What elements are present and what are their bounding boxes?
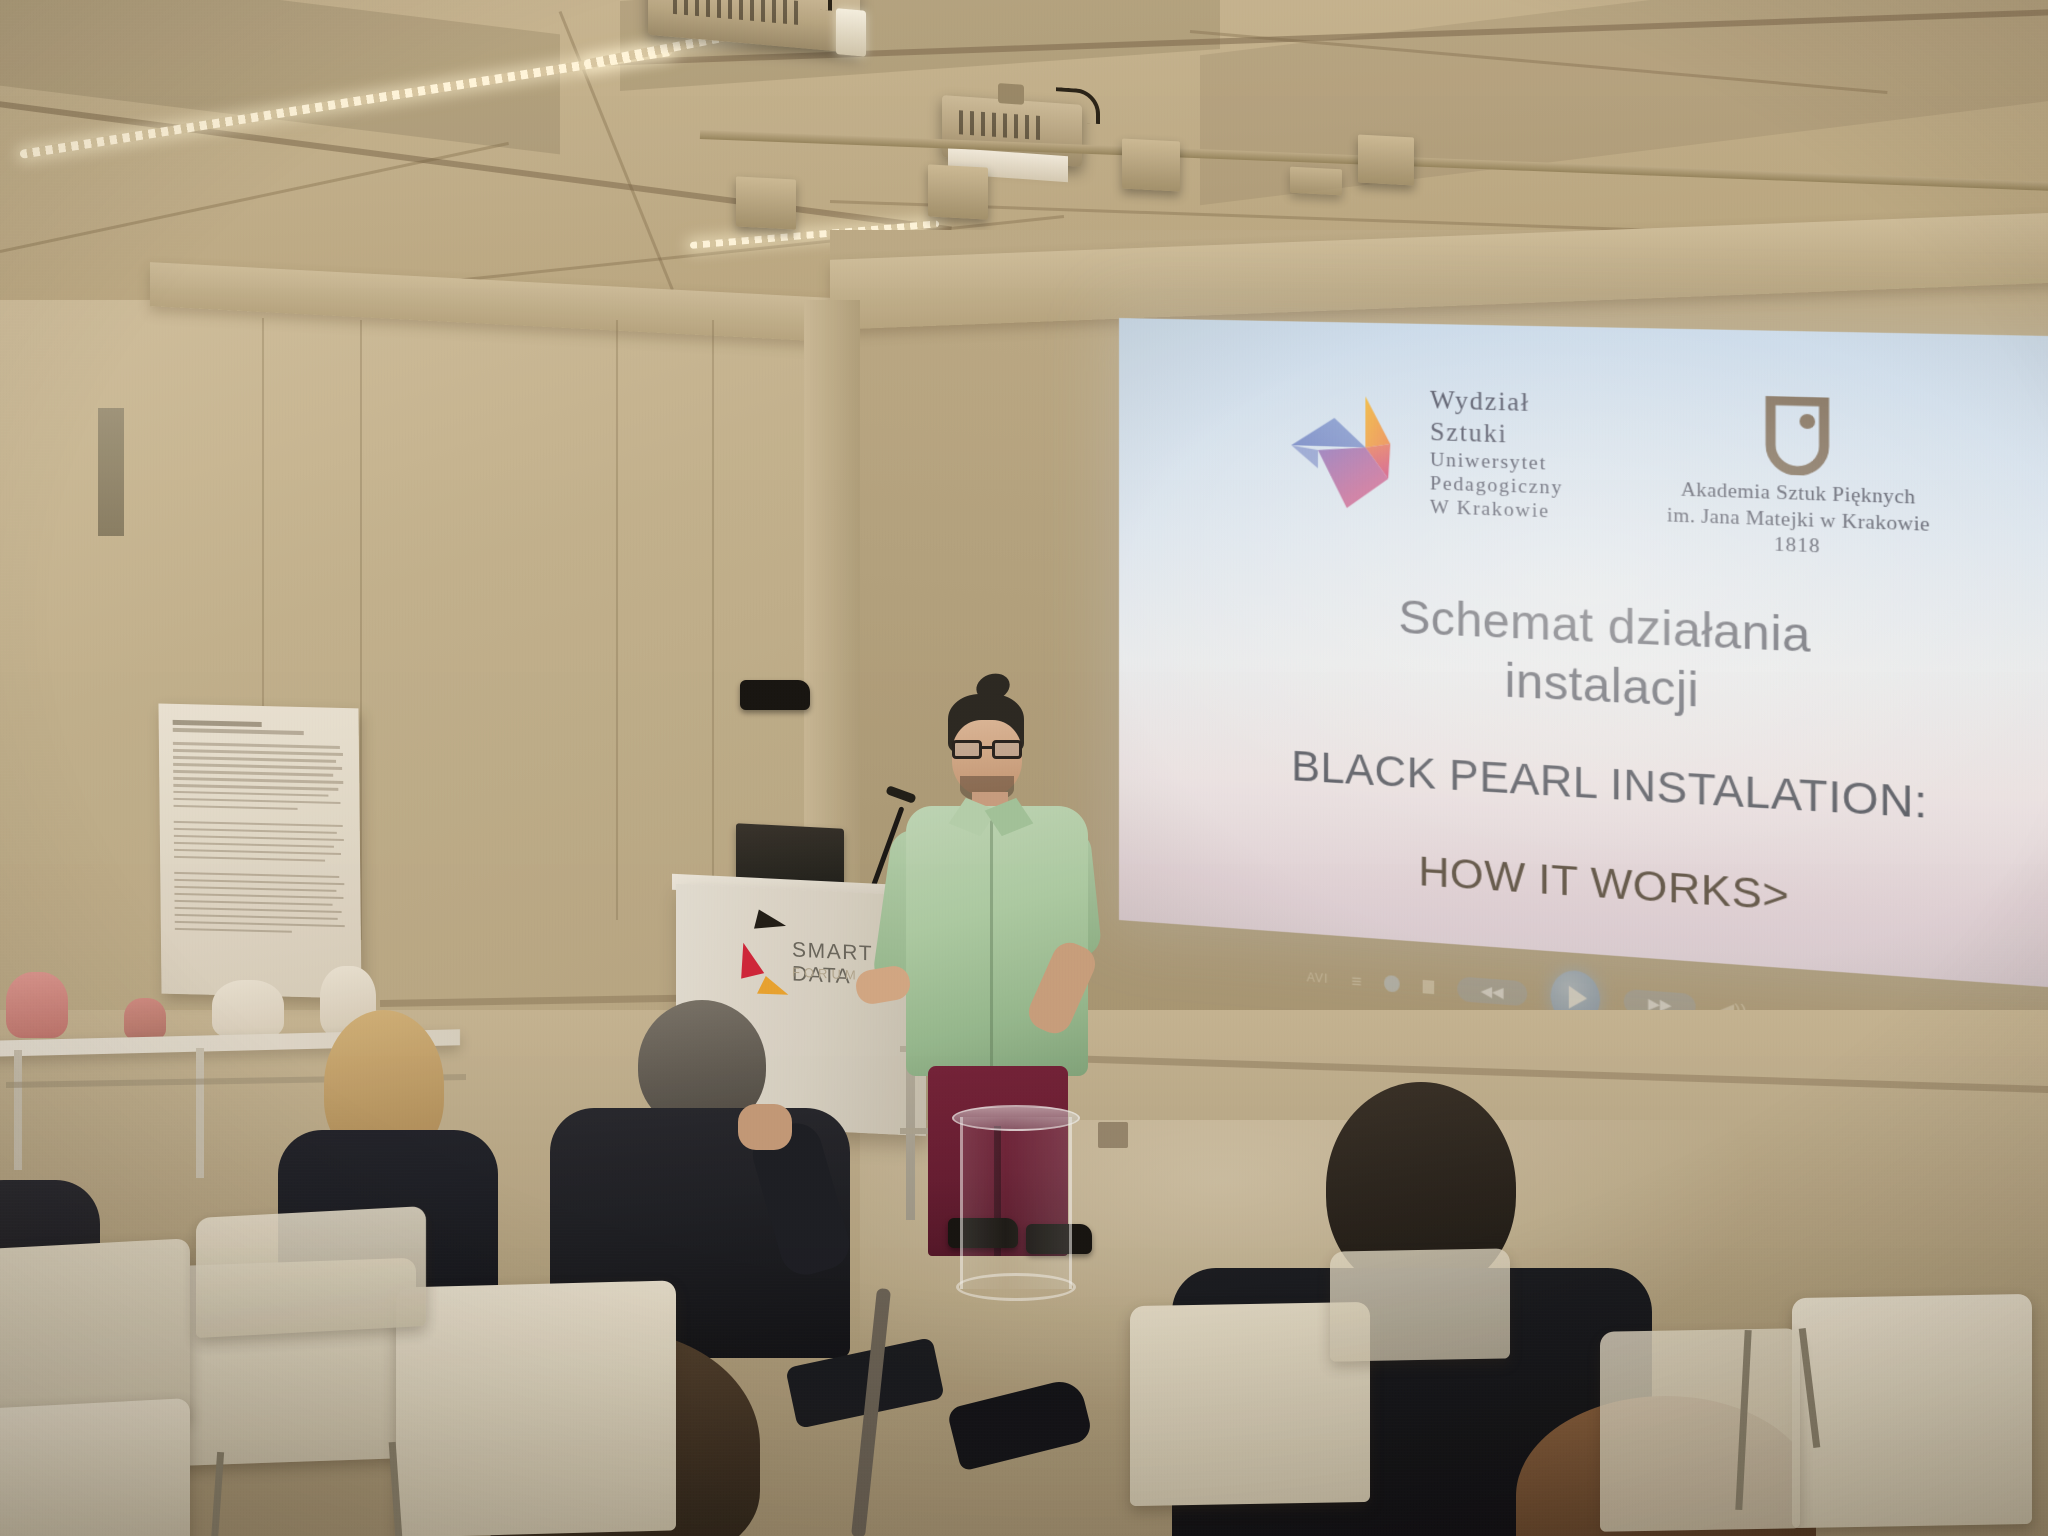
track-spotlight-1 <box>736 176 796 229</box>
track-spotlight-2 <box>928 164 988 219</box>
poster-heading <box>173 720 262 727</box>
shield-icon <box>1763 396 1832 476</box>
logo-left-line-1: Wydział <box>1430 386 1563 421</box>
track-spotlight-5 <box>1290 167 1342 196</box>
acrylic-round-table <box>952 1105 1080 1305</box>
sculpture-pink-large <box>6 972 68 1038</box>
wall-power-socket <box>1098 1122 1128 1148</box>
wall-text-poster <box>158 704 361 999</box>
chair-front-center[interactable] <box>396 1280 676 1536</box>
chair-row1-left[interactable] <box>0 1398 190 1536</box>
slide-logos-row: Wydział Sztuki Uniwersytet Pedagogiczny … <box>1119 378 2048 573</box>
presenter-shoe-left <box>740 680 810 710</box>
chair-far-right[interactable] <box>1792 1294 2032 1528</box>
stop-icon[interactable] <box>1422 979 1434 993</box>
logo-right-wordmark: Akademia Sztuk Pięknych im. Jana Matejki… <box>1667 477 1930 565</box>
slide-cta: HOW IT WORKS> <box>1119 828 2048 944</box>
exhibit-table-leg-2 <box>196 1048 204 1178</box>
wall-seam-3 <box>616 320 618 920</box>
logo-left-wordmark: Wydział Sztuki Uniwersytet Pedagogiczny … <box>1430 386 1563 525</box>
projector-vents-2 <box>959 110 1043 141</box>
chair-behind-blonde[interactable] <box>196 1206 426 1338</box>
presenter-shirt <box>906 806 1088 1076</box>
audience-hand <box>738 1104 792 1150</box>
subtitles-icon[interactable]: ≡ <box>1351 972 1361 990</box>
glasses-icon <box>950 740 1024 760</box>
table-base-ring <box>956 1273 1076 1301</box>
chair-far-right-2[interactable] <box>1600 1328 1800 1531</box>
slide-title: Schemat działania instalacji <box>1119 576 2048 742</box>
wydzial-sztuki-logo: Wydział Sztuki Uniwersytet Pedagogiczny … <box>1289 382 1563 524</box>
track-spotlight-4 <box>1358 135 1414 186</box>
rewind-button[interactable]: ◀◀ <box>1457 976 1527 1006</box>
wall-seam-4 <box>712 320 714 920</box>
wall-tv-mount-strip <box>98 408 124 536</box>
projector-lens <box>836 8 866 57</box>
audio-icon[interactable] <box>1384 975 1399 993</box>
projector-mount-2 <box>998 83 1024 105</box>
table-top <box>952 1105 1080 1131</box>
media-format-label: AVI <box>1307 970 1329 986</box>
poster-subheading <box>173 728 304 735</box>
logo-left-line-2: Sztuki <box>1430 417 1563 452</box>
sculpture-pink-small <box>124 998 166 1040</box>
presentation-room-photo: Wydział Sztuki Uniwersytet Pedagogiczny … <box>0 0 2048 1536</box>
origami-bird-icon <box>1289 389 1413 513</box>
chair-right-back[interactable] <box>1330 1248 1510 1361</box>
akademia-sztuk-pieknych-logo: Akademia Sztuk Pięknych im. Jana Matejki… <box>1667 391 1930 565</box>
projection-screen: Wydział Sztuki Uniwersytet Pedagogiczny … <box>1119 318 2048 993</box>
play-icon <box>1569 986 1587 1010</box>
sculpture-white-large <box>212 980 284 1038</box>
table-body <box>960 1117 1072 1289</box>
slide-heading: BLACK PEARL INSTALATION: <box>1119 732 2048 840</box>
slide-surface: Wydział Sztuki Uniwersytet Pedagogiczny … <box>1119 318 2048 993</box>
wall-seam-2 <box>360 320 362 940</box>
exhibit-table-leg-1 <box>14 1050 22 1170</box>
logo-left-line-5: W Krakowie <box>1430 496 1563 525</box>
track-spotlight-3 <box>1122 138 1180 191</box>
